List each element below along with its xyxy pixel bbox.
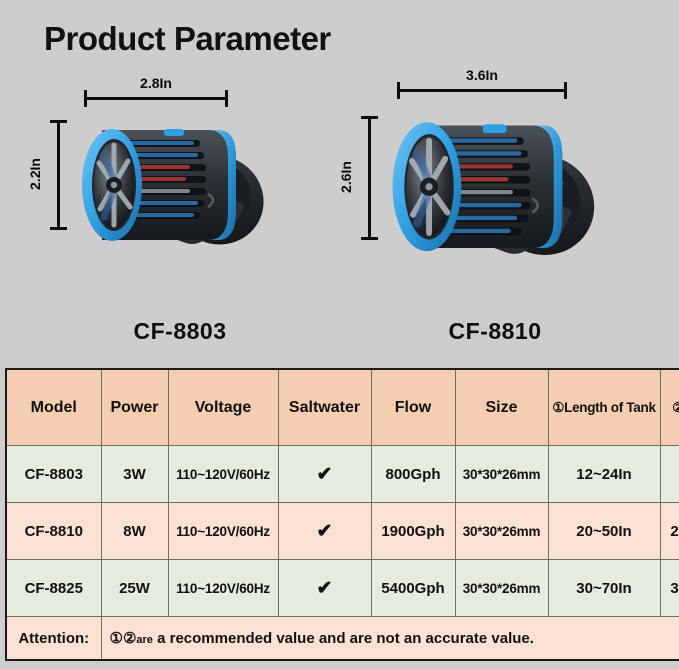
cell-model: CF-8810	[6, 503, 101, 560]
cell-flow: 800Gph	[371, 446, 455, 503]
width-dimension-label: 2.8In	[84, 75, 228, 91]
product-image-cf8810	[379, 104, 649, 319]
cell-size: 30*30*26mm	[455, 560, 548, 617]
cell-saltwater: ✔	[278, 503, 371, 560]
product-name-cf8803: CF-8803	[30, 318, 330, 345]
dimension-bar	[368, 116, 371, 240]
product-card-cf8810: 3.6In 2.6In	[335, 70, 655, 345]
product-gallery: 2.8In 2.2In	[0, 70, 679, 345]
attention-label: Attention:	[6, 617, 101, 661]
height-dimension-label: 2.2In	[27, 139, 43, 209]
cell-flow: 5400Gph	[371, 560, 455, 617]
cell-voltage: 110~120V/60Hz	[168, 503, 278, 560]
cell-model: CF-8825	[6, 560, 101, 617]
cell-flow: 1900Gph	[371, 503, 455, 560]
product-name-cf8810: CF-8810	[335, 318, 655, 345]
cell-power: 8W	[101, 503, 168, 560]
cell-voltage: 110~120V/60Hz	[168, 560, 278, 617]
table-row: CF-8825 25W 110~120V/60Hz ✔ 5400Gph 30*3…	[6, 560, 679, 617]
column-header-flow: Flow	[371, 369, 455, 446]
cell-fish-tank: 20~120Gal	[660, 503, 679, 560]
column-header-fish-tank: ②Fish Tank	[660, 369, 679, 446]
cell-length-of-tank: 30~70In	[548, 560, 660, 617]
height-dimension-cf8803: 2.2In	[38, 120, 60, 230]
cell-fish-tank: 30~300Gal	[660, 560, 679, 617]
cell-voltage: 110~120V/60Hz	[168, 446, 278, 503]
product-image-cf8803	[68, 108, 318, 308]
height-dimension-cf8810: 2.6In	[349, 116, 371, 240]
width-dimension-cf8810: 3.6In	[397, 70, 567, 92]
product-card-cf8803: 2.8In 2.2In	[30, 70, 330, 345]
cell-length-of-tank: 12~24In	[548, 446, 660, 503]
attention-note: ①②are a recommended value and are not an…	[101, 617, 679, 661]
cell-length-of-tank: 20~50In	[548, 503, 660, 560]
cell-size: 30*30*26mm	[455, 503, 548, 560]
cell-saltwater: ✔	[278, 446, 371, 503]
table-header-row: Model Power Voltage Saltwater Flow Size …	[6, 369, 679, 446]
page-title: Product Parameter	[44, 20, 331, 58]
column-header-saltwater: Saltwater	[278, 369, 371, 446]
table-row: CF-8803 3W 110~120V/60Hz ✔ 800Gph 30*30*…	[6, 446, 679, 503]
column-header-voltage: Voltage	[168, 369, 278, 446]
column-header-model: Model	[6, 369, 101, 446]
column-header-power: Power	[101, 369, 168, 446]
product-parameter-table: Model Power Voltage Saltwater Flow Size …	[5, 368, 679, 661]
width-dimension-cf8803: 2.8In	[84, 78, 228, 100]
attention-text: a recommended value and are not an accur…	[157, 630, 534, 647]
cell-size: 30*30*26mm	[455, 446, 548, 503]
cell-model: CF-8803	[6, 446, 101, 503]
cell-fish-tank: 5~40Gal	[660, 446, 679, 503]
dimension-bar	[397, 89, 567, 92]
table-row: CF-8810 8W 110~120V/60Hz ✔ 1900Gph 30*30…	[6, 503, 679, 560]
table-footer-row: Attention: ①②are a recommended value and…	[6, 617, 679, 661]
width-dimension-label: 3.6In	[397, 67, 567, 83]
column-header-length-of-tank: ①Length of Tank	[548, 369, 660, 446]
column-header-size: Size	[455, 369, 548, 446]
cell-saltwater: ✔	[278, 560, 371, 617]
height-dimension-label: 2.6In	[338, 142, 354, 212]
cell-power: 3W	[101, 446, 168, 503]
attention-marks: ①②	[110, 630, 137, 647]
cell-power: 25W	[101, 560, 168, 617]
spec-table-container: Model Power Voltage Saltwater Flow Size …	[5, 368, 673, 661]
dimension-bar	[57, 120, 60, 230]
attention-are-word: are	[136, 634, 153, 646]
dimension-bar	[84, 97, 228, 100]
